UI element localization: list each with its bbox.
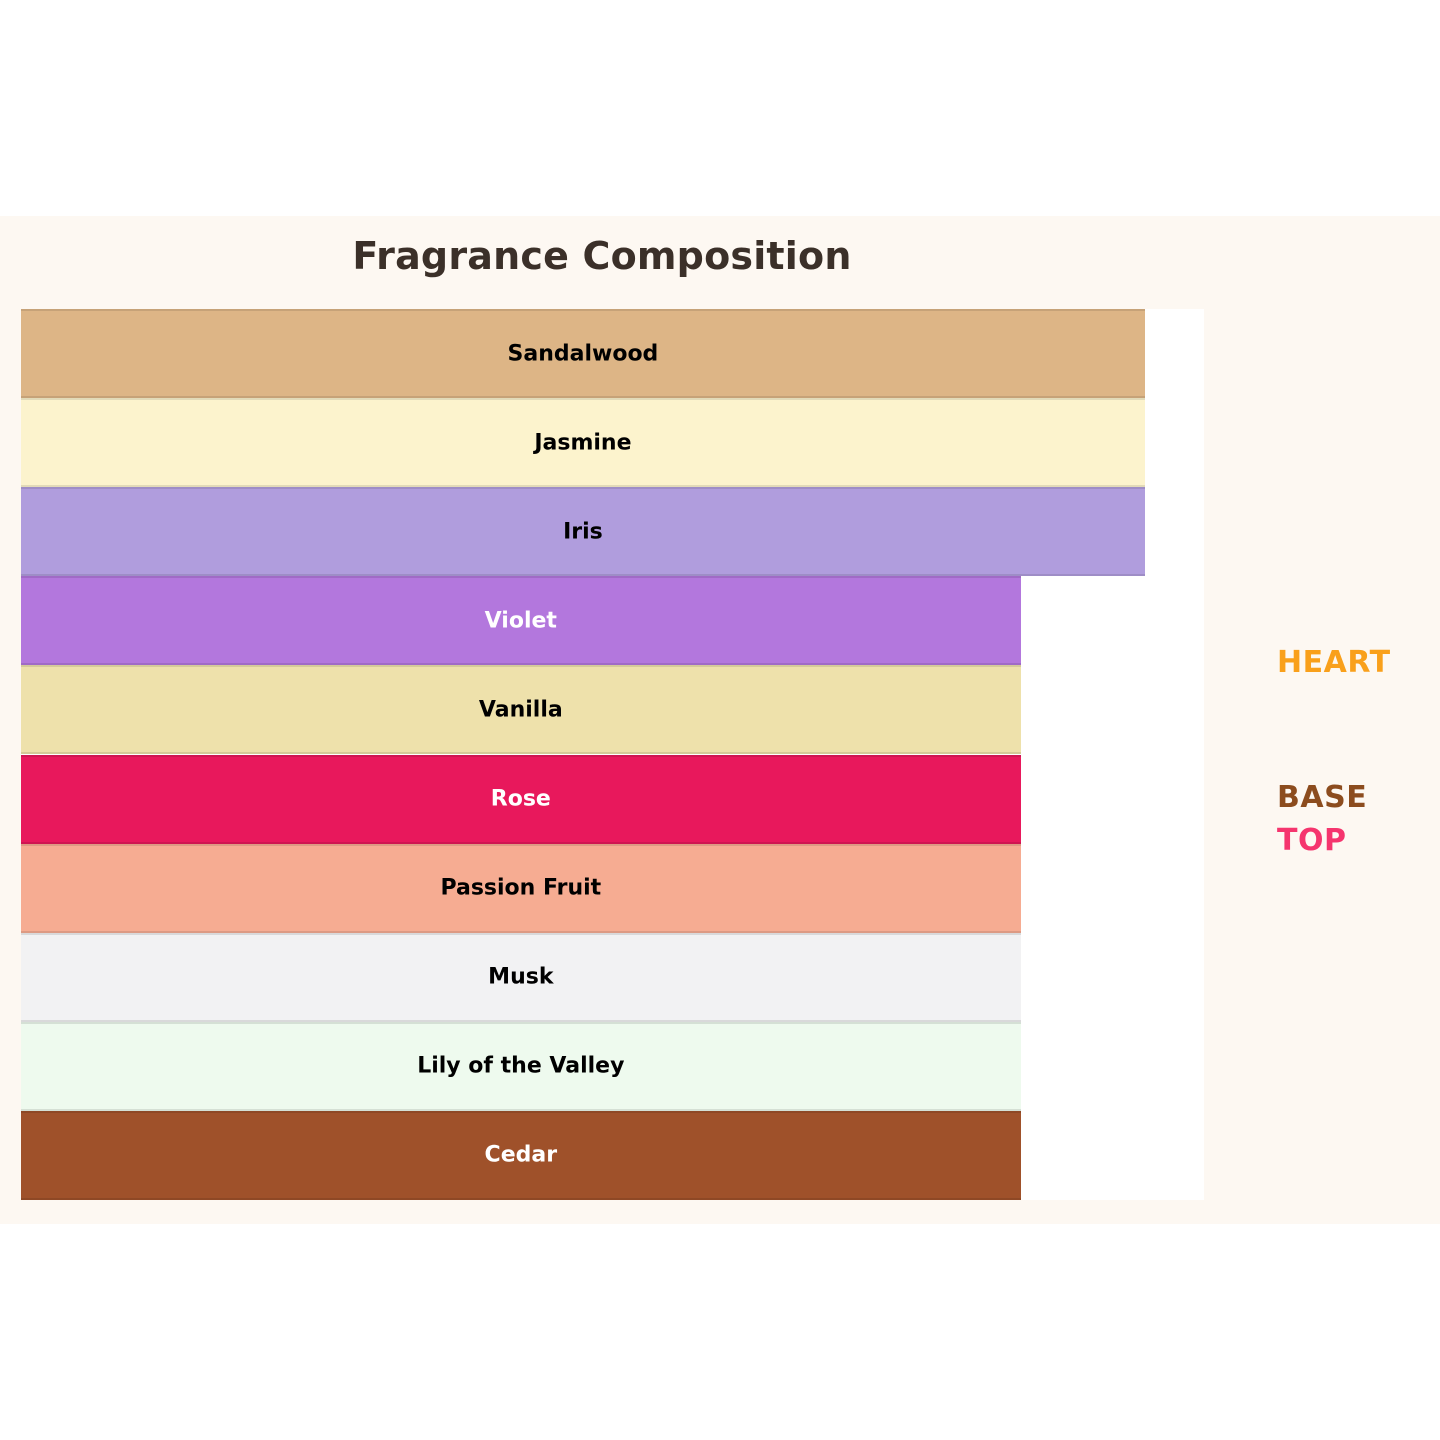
plot-area: SandalwoodJasmineIrisVioletVanillaRosePa… — [21, 309, 1204, 1200]
bar-label: Vanilla — [21, 697, 1021, 722]
bar-row: Lily of the Valley — [21, 1022, 1204, 1111]
bar-jasmine[interactable]: Jasmine — [21, 398, 1145, 487]
bar-row: Violet — [21, 576, 1204, 665]
bar-lily-of-the-valley[interactable]: Lily of the Valley — [21, 1022, 1021, 1111]
bar-label: Cedar — [21, 1143, 1021, 1168]
chart-figure: Fragrance Composition SandalwoodJasmineI… — [0, 216, 1440, 1224]
bar-row: Vanilla — [21, 665, 1204, 754]
bar-row: Jasmine — [21, 398, 1204, 487]
bar-label: Sandalwood — [21, 341, 1145, 366]
legend-item-top[interactable]: TOP — [1277, 823, 1346, 858]
bar-row: Rose — [21, 755, 1204, 844]
bar-label: Iris — [21, 519, 1145, 544]
legend-item-heart[interactable]: HEART — [1277, 645, 1391, 680]
bar-passion-fruit[interactable]: Passion Fruit — [21, 844, 1021, 933]
bar-row: Cedar — [21, 1111, 1204, 1200]
bar-row: Sandalwood — [21, 309, 1204, 398]
bar-cedar[interactable]: Cedar — [21, 1111, 1021, 1200]
legend-item-base[interactable]: BASE — [1277, 780, 1367, 815]
bar-iris[interactable]: Iris — [21, 487, 1145, 576]
bar-row: Passion Fruit — [21, 844, 1204, 933]
bar-sandalwood[interactable]: Sandalwood — [21, 309, 1145, 398]
bar-label: Lily of the Valley — [21, 1054, 1021, 1079]
bar-vanilla[interactable]: Vanilla — [21, 665, 1021, 754]
bar-row: Iris — [21, 487, 1204, 576]
bar-rose[interactable]: Rose — [21, 755, 1021, 844]
bar-musk[interactable]: Musk — [21, 933, 1021, 1022]
bar-label: Rose — [21, 787, 1021, 812]
page-title: Fragrance Composition — [0, 234, 1204, 278]
bar-violet[interactable]: Violet — [21, 576, 1021, 665]
bar-label: Violet — [21, 608, 1021, 633]
bar-label: Jasmine — [21, 430, 1145, 455]
bar-label: Musk — [21, 965, 1021, 990]
bar-label: Passion Fruit — [21, 876, 1021, 901]
bar-row: Musk — [21, 933, 1204, 1022]
